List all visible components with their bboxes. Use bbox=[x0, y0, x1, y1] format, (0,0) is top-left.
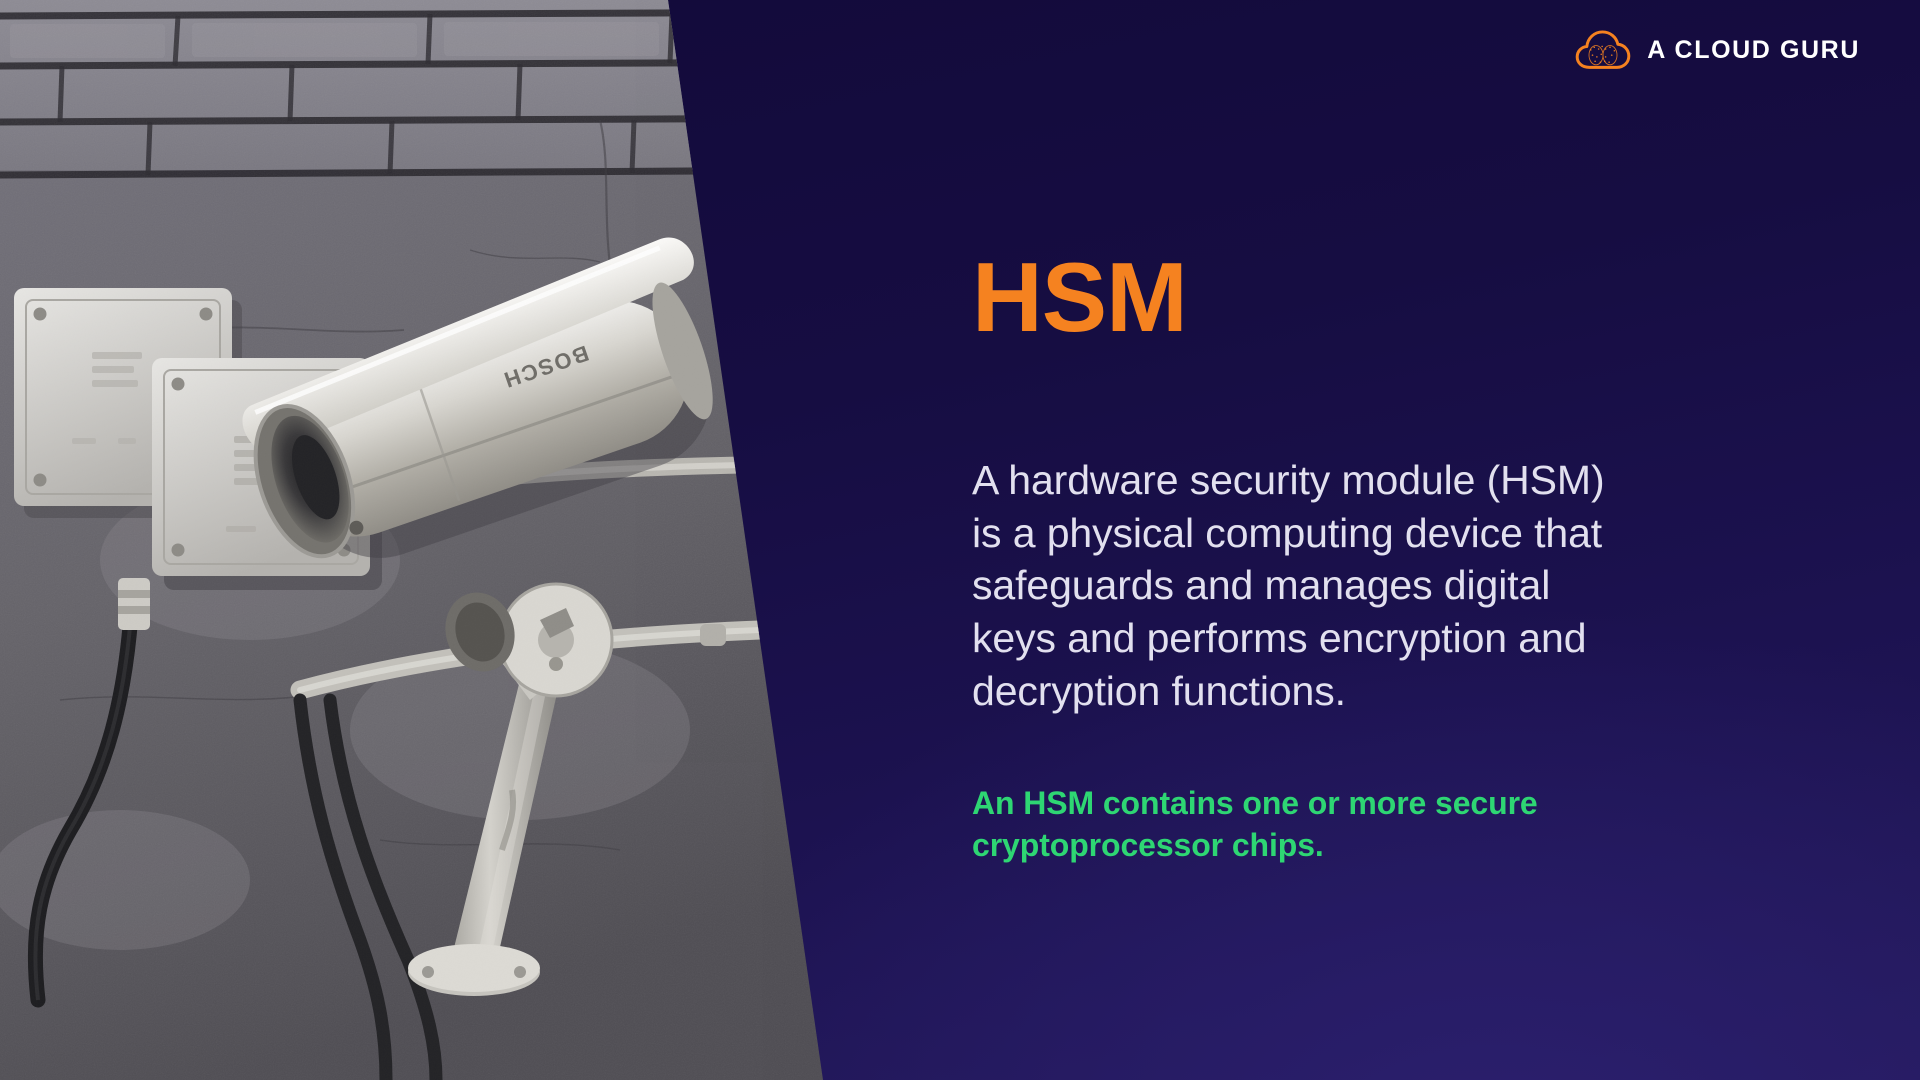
body-paragraph: A hardware security module (HSM) is a ph… bbox=[972, 454, 1632, 717]
slide: BOSCH bbox=[0, 0, 1920, 1080]
page-title: HSM bbox=[972, 248, 1187, 346]
highlight-callout: An HSM contains one or more secure crypt… bbox=[972, 782, 1592, 866]
content-column: HSM A hardware security module (HSM) is … bbox=[972, 0, 1852, 1080]
